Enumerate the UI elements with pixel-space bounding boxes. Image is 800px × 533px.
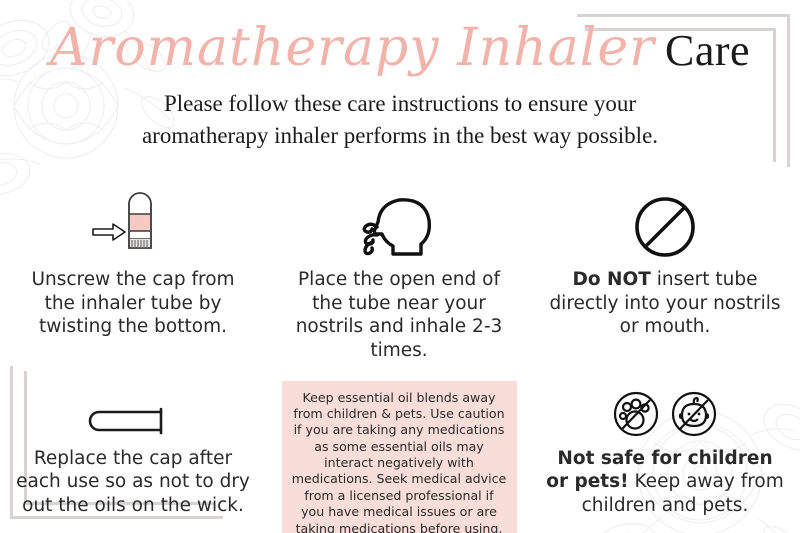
instructions-row-1: Unscrew the cap from the inhaler tube by… [0,188,800,363]
header: Aromatherapy InhalerCare Please follow t… [0,0,800,151]
step-1-icon-box [14,188,252,260]
no-pets-icon [611,389,661,439]
step-3-text-bold: Do NOT [573,269,651,290]
instructions-row-2: Replace the cap after each use so as not… [0,381,800,533]
page-title-script: Aromatherapy Inhaler [50,18,655,78]
step-inhale: Place the open end of the tube near your… [266,188,532,363]
step-2-icon-box [280,188,518,260]
inhaler-tube-icon [77,190,189,260]
step-2-text: Place the open end of the tube near your… [280,268,518,363]
step-4-icon-box [14,381,252,439]
step-unscrew-cap: Unscrew the cap from the inhaler tube by… [0,188,266,363]
step-3-text: Do NOT insert tube directly into your no… [546,268,784,339]
safety-icons [611,389,719,439]
warning-cell: Keep essential oil blends away from chil… [266,381,532,533]
page-title: Aromatherapy InhalerCare [0,22,800,74]
page-title-plain: Care [665,26,750,75]
safety-icon-box [546,381,784,439]
safety-text: Not safe for children or pets! Keep away… [546,447,784,518]
no-children-icon [669,389,719,439]
care-instructions-card: Aromatherapy InhalerCare Please follow t… [0,0,800,533]
page-subtitle: Please follow these care instructions to… [100,88,700,151]
inhaler-cap-icon [81,403,185,439]
instructions-grid: Unscrew the cap from the inhaler tube by… [0,188,800,533]
step-4-text: Replace the cap after each use so as not… [14,447,252,518]
warning-box: Keep essential oil blends away from chil… [282,381,517,533]
step-replace-cap: Replace the cap after each use so as not… [0,381,266,533]
step-do-not-insert: Do NOT insert tube directly into your no… [532,188,798,363]
step-3-icon-box [546,188,784,260]
safety-cell: Not safe for children or pets! Keep away… [532,381,798,533]
prohibition-icon [632,194,698,260]
step-1-text: Unscrew the cap from the inhaler tube by… [14,268,252,339]
head-inhaling-icon [349,194,449,260]
